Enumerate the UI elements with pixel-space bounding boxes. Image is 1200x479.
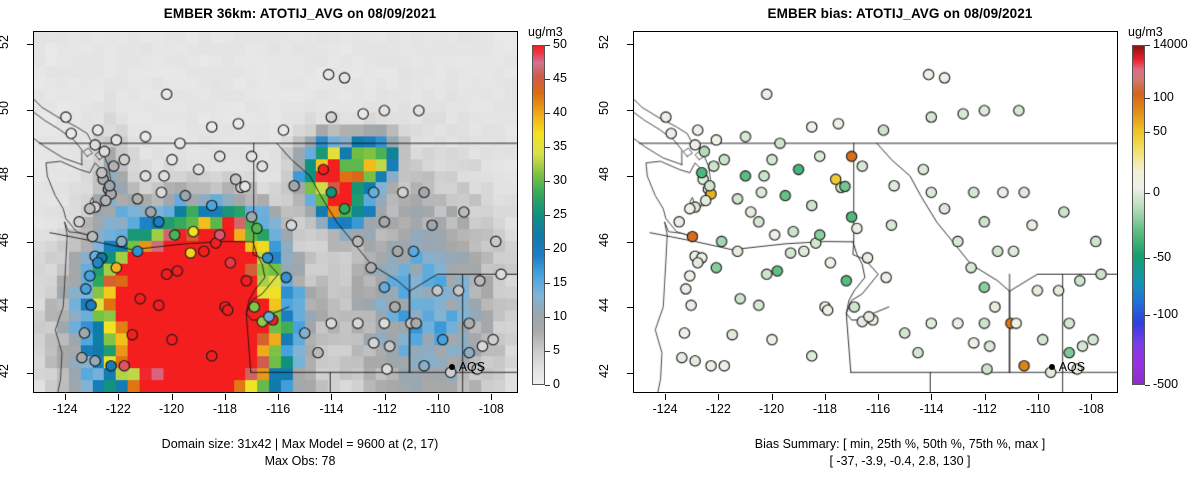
x-axis-tick-label: -120 xyxy=(742,402,802,416)
caption-right-line1: Bias Summary: [ min, 25th %, 50th %, 75t… xyxy=(600,437,1200,451)
y-axis-tick-label: 52 xyxy=(0,22,11,62)
map-plot-right[interactable] xyxy=(633,31,1118,393)
x-axis-tick xyxy=(225,394,226,400)
colorbar-tick-label: 25 xyxy=(553,207,567,221)
y-axis-tick-label: 42 xyxy=(597,351,611,391)
y-axis-tick xyxy=(627,110,633,111)
y-axis-tick-label: 48 xyxy=(0,154,11,194)
x-axis-tick-label: -124 xyxy=(35,402,95,416)
page-title-left: EMBER 36km: ATOTIJ_AVG on 08/09/2021 xyxy=(0,6,600,21)
x-axis-tick xyxy=(931,394,932,400)
y-axis-tick xyxy=(27,44,33,45)
caption-left-line2: Max Obs: 78 xyxy=(0,454,600,468)
x-axis-tick-label: -108 xyxy=(461,402,521,416)
aqs-dot-icon xyxy=(449,364,455,370)
x-axis-tick xyxy=(878,394,879,400)
x-axis-tick xyxy=(65,394,66,400)
x-axis-tick xyxy=(665,394,666,400)
bias-canvas[interactable] xyxy=(634,32,1117,392)
x-axis-tick-label: -112 xyxy=(355,402,415,416)
x-axis-tick xyxy=(331,394,332,400)
panel-bias: EMBER bias: ATOTIJ_AVG on 08/09/2021 AQS… xyxy=(600,0,1200,479)
y-axis-tick-label: 42 xyxy=(0,351,11,391)
x-axis-tick xyxy=(385,394,386,400)
x-axis-tick xyxy=(985,394,986,400)
y-axis-tick xyxy=(27,307,33,308)
colorbar-tick-label: 40 xyxy=(553,105,567,119)
y-axis-tick xyxy=(627,242,633,243)
colorbar-tick-label: 100 xyxy=(1153,90,1174,104)
y-axis-tick xyxy=(27,176,33,177)
model-concentration-canvas[interactable] xyxy=(34,32,517,392)
y-axis-tick-label: 52 xyxy=(597,22,611,62)
colorbar-tick-label: 20 xyxy=(553,241,567,255)
colorbar-gradient xyxy=(532,45,545,385)
y-axis-tick xyxy=(627,373,633,374)
x-axis-tick-label: -110 xyxy=(1008,402,1068,416)
colorbar-tick xyxy=(545,113,550,114)
aqs-legend-label: AQS xyxy=(459,360,485,374)
y-axis-tick-label: 48 xyxy=(597,154,611,194)
x-axis-tick-label: -122 xyxy=(688,402,748,416)
x-axis-tick xyxy=(1091,394,1092,400)
y-axis-tick xyxy=(27,373,33,374)
x-axis-tick-label: -114 xyxy=(901,402,961,416)
colorbar-tick-label: 45 xyxy=(553,71,567,85)
x-axis-tick xyxy=(438,394,439,400)
colorbar-tick xyxy=(545,249,550,250)
aqs-legend-label: AQS xyxy=(1059,360,1085,374)
colorbar-tick-label: 0 xyxy=(553,377,560,391)
figure-root: EMBER 36km: ATOTIJ_AVG on 08/09/2021 AQS… xyxy=(0,0,1200,479)
y-axis-tick-label: 46 xyxy=(597,220,611,260)
map-plot-left[interactable] xyxy=(33,31,518,393)
colorbar-tick xyxy=(545,283,550,284)
colorbar-tick xyxy=(1145,193,1150,194)
colorbar-tick xyxy=(545,181,550,182)
x-axis-tick-label: -124 xyxy=(635,402,695,416)
colorbar-tick xyxy=(1145,45,1150,46)
colorbar-tick-label: 50 xyxy=(553,37,567,51)
x-axis-tick-label: -116 xyxy=(848,402,908,416)
aqs-legend-right: AQS xyxy=(1049,360,1085,374)
y-axis-tick-label: 50 xyxy=(0,88,11,128)
y-axis-tick-label: 44 xyxy=(0,285,11,325)
colorbar-tick xyxy=(545,351,550,352)
x-axis-tick-label: -122 xyxy=(88,402,148,416)
y-axis-tick-label: 46 xyxy=(0,220,11,260)
colorbar-tick-label: 15 xyxy=(553,275,567,289)
y-axis-tick-label: 44 xyxy=(597,285,611,325)
y-axis-tick xyxy=(627,307,633,308)
colorbar-tick-label: 50 xyxy=(1153,124,1167,138)
colorbar-tick xyxy=(545,385,550,386)
colorbar-tick-label: -100 xyxy=(1153,307,1178,321)
x-axis-tick-label: -120 xyxy=(142,402,202,416)
y-axis-tick xyxy=(627,44,633,45)
x-axis-tick xyxy=(825,394,826,400)
colorbar-tick-label: 35 xyxy=(553,139,567,153)
colorbar-tick xyxy=(545,147,550,148)
x-axis-tick xyxy=(772,394,773,400)
x-axis-tick xyxy=(118,394,119,400)
aqs-dot-icon xyxy=(1049,364,1055,370)
colorbar-tick xyxy=(1145,315,1150,316)
panel-model-concentration: EMBER 36km: ATOTIJ_AVG on 08/09/2021 AQS… xyxy=(0,0,600,479)
colorbar-tick xyxy=(545,317,550,318)
colorbar-tick-label: -500 xyxy=(1153,377,1178,391)
colorbar-tick-label: 10 xyxy=(553,309,567,323)
colorbar-tick xyxy=(545,215,550,216)
x-axis-tick-label: -114 xyxy=(301,402,361,416)
colorbar-tick xyxy=(1145,258,1150,259)
y-axis-tick xyxy=(627,176,633,177)
aqs-legend-left: AQS xyxy=(449,360,485,374)
x-axis-tick-label: -108 xyxy=(1061,402,1121,416)
x-axis-tick xyxy=(278,394,279,400)
y-axis-tick xyxy=(27,110,33,111)
x-axis-tick-label: -112 xyxy=(955,402,1015,416)
x-axis-tick-label: -118 xyxy=(195,402,255,416)
colorbar-tick xyxy=(1145,385,1150,386)
colorbar-tick xyxy=(1145,98,1150,99)
colorbar-tick xyxy=(545,45,550,46)
colorbar-gradient xyxy=(1132,45,1145,385)
colorbar-tick-label: 5 xyxy=(553,343,560,357)
colorbar-tick-label: 14000 xyxy=(1153,37,1188,51)
page-title-right: EMBER bias: ATOTIJ_AVG on 08/09/2021 xyxy=(600,6,1200,21)
x-axis-tick-label: -116 xyxy=(248,402,308,416)
y-axis-tick xyxy=(27,242,33,243)
x-axis-tick-label: -118 xyxy=(795,402,855,416)
colorbar-tick xyxy=(1145,132,1150,133)
x-axis-tick xyxy=(172,394,173,400)
colorbar-tick-label: -50 xyxy=(1153,250,1171,264)
x-axis-tick xyxy=(491,394,492,400)
colorbar-tick-label: 0 xyxy=(1153,185,1160,199)
x-axis-tick-label: -110 xyxy=(408,402,468,416)
colorbar-tick-label: 30 xyxy=(553,173,567,187)
caption-right-line2: [ -37, -3.9, -0.4, 2.8, 130 ] xyxy=(600,454,1200,468)
colorbar-tick xyxy=(545,79,550,80)
caption-left-line1: Domain size: 31x42 | Max Model = 9600 at… xyxy=(0,437,600,451)
x-axis-tick xyxy=(718,394,719,400)
x-axis-tick xyxy=(1038,394,1039,400)
y-axis-tick-label: 50 xyxy=(597,88,611,128)
